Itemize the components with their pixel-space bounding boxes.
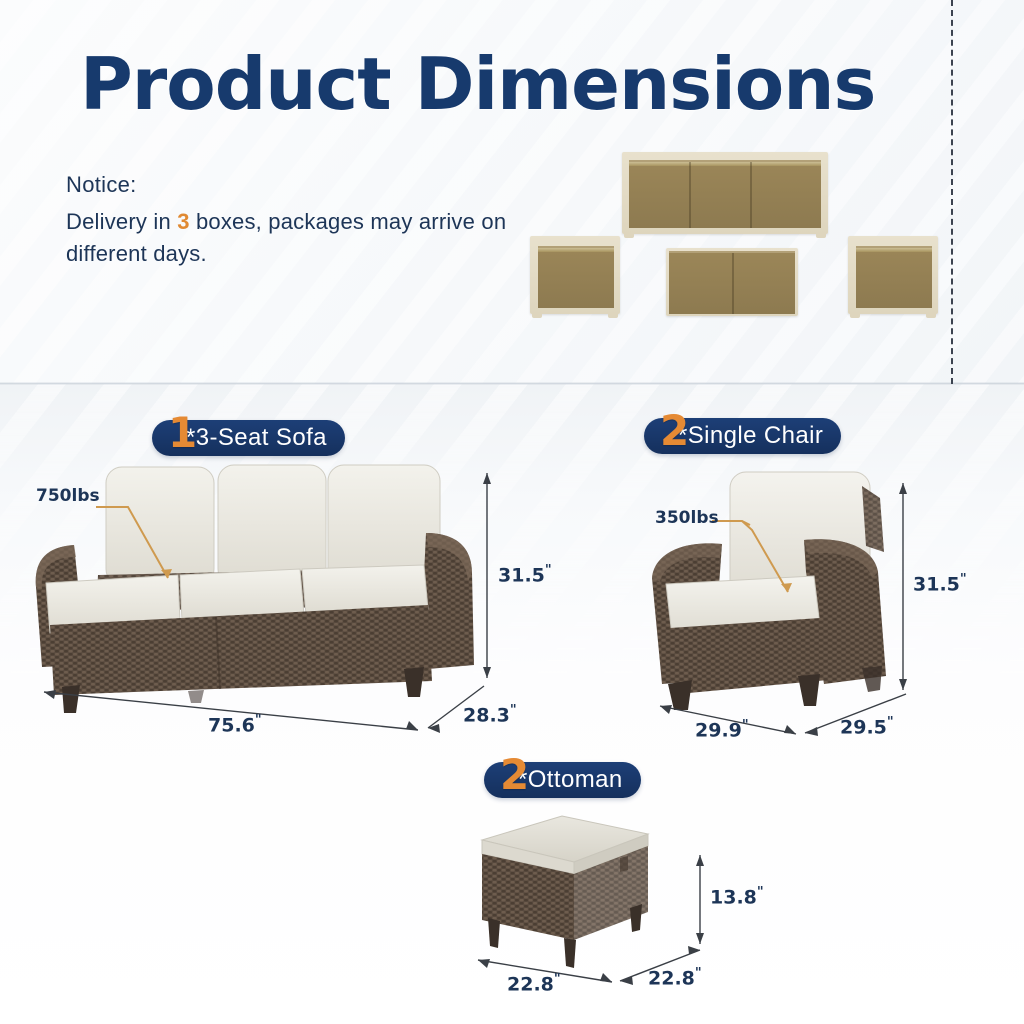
box-lip — [538, 248, 614, 252]
box-lip — [856, 248, 932, 252]
box-foot — [850, 312, 860, 318]
ottoman-depth-label: 22.8" — [648, 966, 702, 989]
box-lip — [629, 162, 821, 166]
ottoman-height-label: 13.8" — [710, 885, 764, 908]
chair-width-label: 29.9" — [695, 718, 749, 741]
chair-leg — [798, 674, 820, 706]
sofa-weight-capacity: 750lbs — [36, 486, 100, 506]
chair-leg — [862, 666, 882, 692]
chair-weight-capacity: 350lbs — [655, 508, 719, 528]
page-title: Product Dimensions — [80, 42, 960, 126]
chair-depth-label: 29.5" — [840, 715, 894, 738]
badge-label: *3-Seat Sofa — [186, 424, 327, 452]
ottoman-leg — [488, 918, 500, 948]
sofa-leg — [404, 667, 424, 697]
package-box-chair-left — [530, 236, 620, 314]
notice-text: Delivery in 3 boxes, packages may arrive… — [66, 206, 516, 270]
badge-quantity: 1 — [168, 412, 197, 454]
chair-height-label: 31.5" — [913, 572, 967, 595]
notice-label: Notice: — [66, 172, 516, 198]
badge-label: *Ottoman — [518, 766, 623, 794]
sofa-leg — [62, 685, 80, 713]
box-face — [669, 251, 795, 314]
package-box-chair-right — [848, 236, 938, 314]
package-box-group — [520, 148, 940, 328]
box-foot — [608, 312, 618, 318]
box-face — [629, 160, 821, 228]
sofa-depth-label: 28.3" — [463, 703, 517, 726]
sofa-illustration — [28, 455, 508, 715]
chair-leg — [668, 680, 692, 710]
box-foot — [624, 232, 634, 238]
section-divider — [0, 382, 1024, 385]
ottoman-leg — [564, 938, 576, 968]
ottoman-illustration — [452, 812, 702, 972]
ottoman-leg — [630, 904, 642, 932]
notice-text-before: Delivery in — [66, 209, 177, 234]
chair-illustration — [648, 468, 928, 718]
box-foot — [926, 312, 936, 318]
sofa-width-label: 75.6" — [208, 713, 262, 736]
box-seam — [732, 253, 734, 314]
box-foot — [816, 232, 826, 238]
notice-box-count: 3 — [177, 209, 189, 234]
box-face — [856, 246, 932, 308]
badge-quantity: 2 — [500, 754, 529, 796]
box-foot — [532, 312, 542, 318]
package-box-sofa — [622, 152, 828, 234]
package-box-ottoman — [666, 248, 798, 316]
badge-quantity: 2 — [660, 410, 689, 452]
box-seam — [750, 162, 752, 228]
sofa-height-label: 31.5" — [498, 563, 552, 586]
badge-label: *Single Chair — [678, 422, 823, 450]
box-seam — [689, 162, 691, 228]
ottoman-width-label: 22.8" — [507, 972, 561, 995]
box-face — [538, 246, 614, 308]
infographic-canvas: Product Dimensions Notice: Delivery in 3… — [0, 0, 1024, 1024]
notice-block: Notice: Delivery in 3 boxes, packages ma… — [66, 172, 516, 270]
